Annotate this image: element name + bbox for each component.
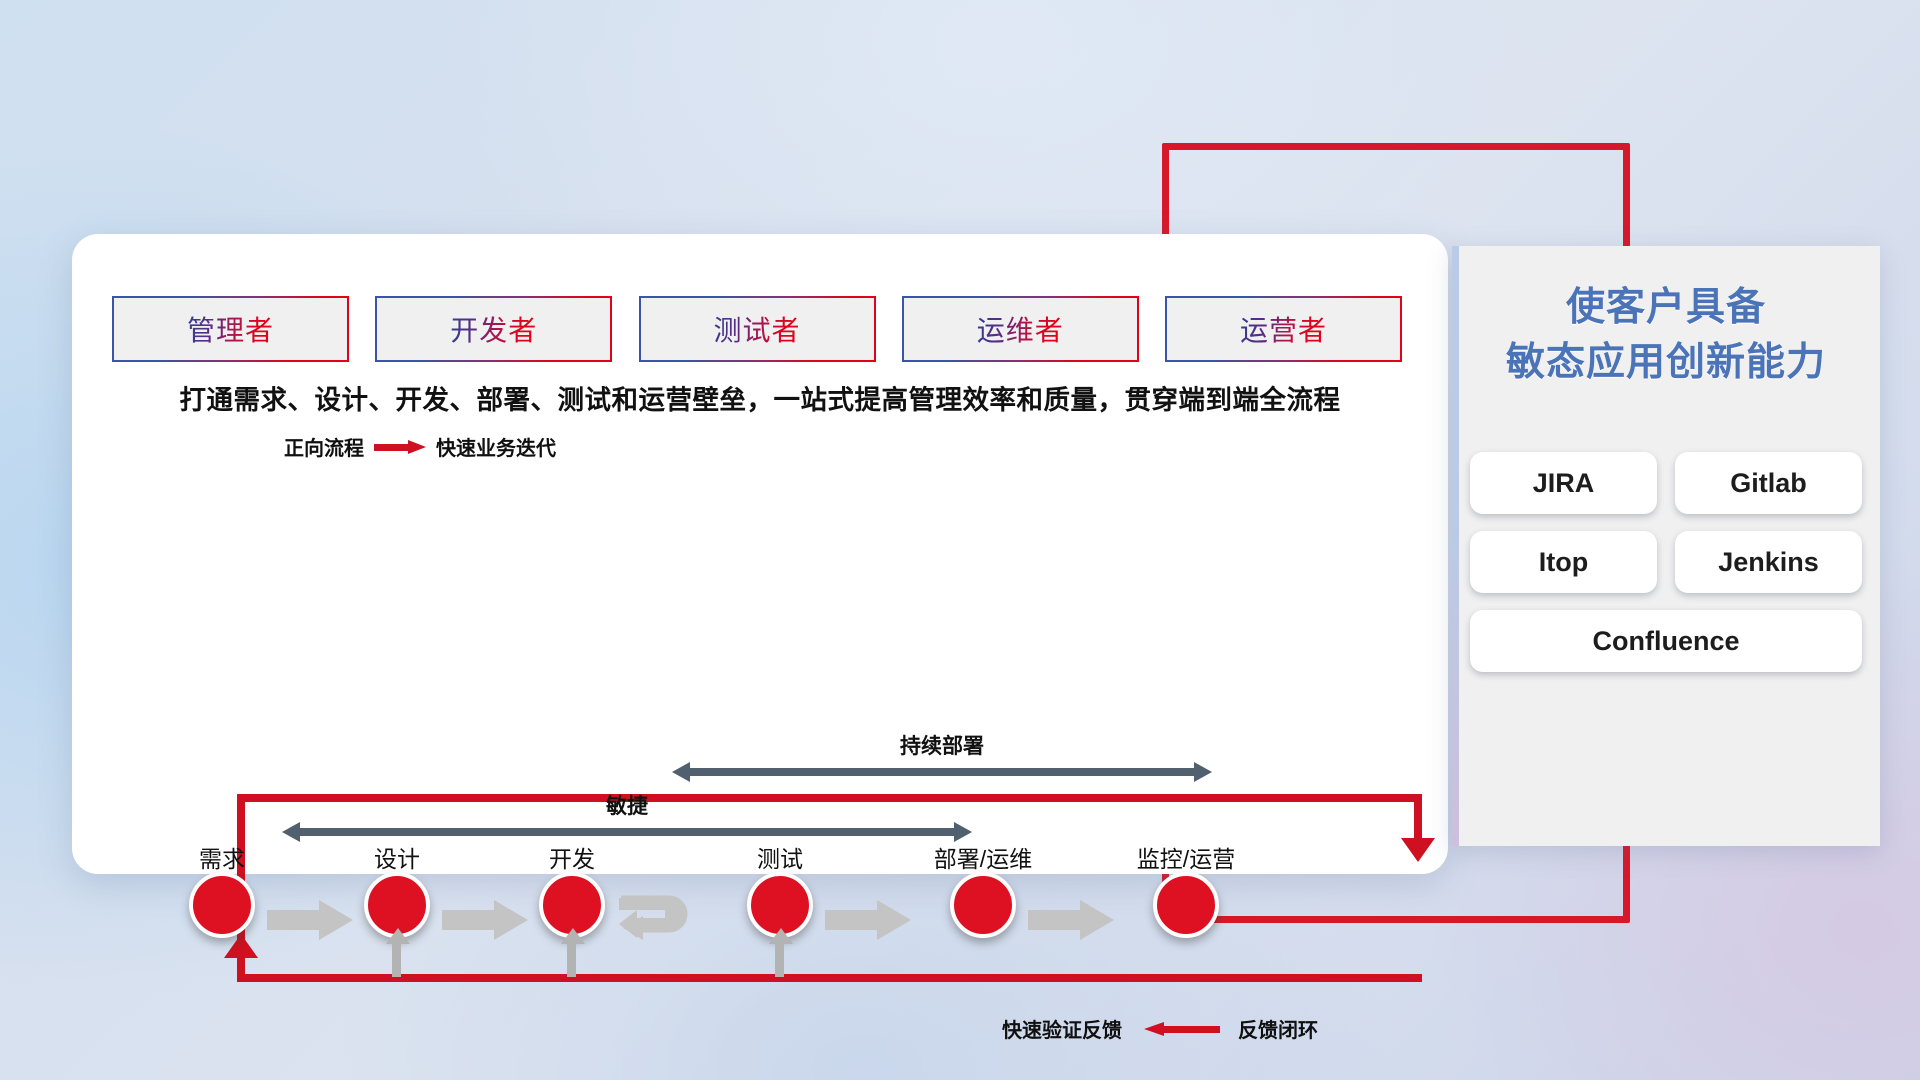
tool-jira[interactable]: JIRA (1470, 452, 1657, 514)
arrow-label: 敏捷 (282, 790, 972, 820)
arrow-shaft (298, 828, 956, 836)
grey-arrow-1-icon (267, 900, 353, 940)
role-operation[interactable]: 运营者 (1165, 296, 1402, 362)
stage-label: 测试 (757, 840, 803, 874)
feeder-stem-testing (775, 939, 784, 977)
feeder-stem-development (567, 939, 576, 977)
tool-label: Confluence (1592, 626, 1739, 657)
feeder-stem-head-design-icon (386, 928, 410, 944)
tool-itop[interactable]: Itop (1470, 531, 1657, 593)
legend-feedback-left: 快速验证反馈 (1002, 1014, 1122, 1043)
stage-label: 开发 (549, 840, 595, 874)
legend-forward-flow: 正向流程 快速业务迭代 (284, 432, 556, 461)
feeder-stem-head-development-icon (561, 928, 585, 944)
tools-list: JIRA Gitlab Itop Jenkins Confluence (1470, 452, 1862, 672)
tool-label: JIRA (1533, 468, 1595, 499)
arrow-agile: 敏捷 (282, 822, 972, 842)
legend-forward-from: 正向流程 (284, 432, 364, 461)
tool-label: Gitlab (1730, 468, 1807, 499)
stage-circle-icon (1153, 872, 1219, 938)
tool-label: Jenkins (1718, 547, 1819, 578)
legend-feedback-right: 反馈闭环 (1238, 1014, 1318, 1043)
panel-title: 使客户具备 敏态应用创新能力 (1452, 280, 1880, 391)
iteration-loop-arrow-icon (617, 894, 713, 950)
tool-label: Itop (1539, 547, 1588, 578)
role-label: 运维者 (977, 309, 1064, 349)
feeder-stem-design (392, 939, 401, 977)
headline-text: 打通需求、设计、开发、部署、测试和运营壁垒，一站式提高管理效率和质量，贯穿端到端… (72, 378, 1448, 417)
arrow-continuous-deployment: 持续部署 (672, 762, 1212, 782)
value-proposition-panel: 使客户具备 敏态应用创新能力 JIRA Gitlab Itop Jenkins … (1452, 246, 1880, 846)
roles-row: 管理者 开发者 测试者 运维者 运营者 (112, 296, 1402, 362)
legend-forward-to: 快速业务迭代 (436, 432, 556, 461)
arrow-head-right-icon (1194, 762, 1212, 782)
grey-arrow-2-icon (442, 900, 528, 940)
role-label: 测试者 (713, 309, 800, 349)
arrow-shaft (688, 768, 1196, 776)
stage-label: 设计 (374, 840, 420, 874)
grey-arrow-3-icon (825, 900, 911, 940)
pipeline: 需求 设计 开发 (72, 846, 1448, 966)
grey-arrow-4-icon (1028, 900, 1114, 940)
stage-circle-icon (950, 872, 1016, 938)
stage-label: 监控/运营 (1137, 840, 1235, 874)
arrow-right-red-icon (374, 440, 426, 454)
tool-jenkins[interactable]: Jenkins (1675, 531, 1862, 593)
panel-title-line2: 敏态应用创新能力 (1452, 335, 1880, 390)
legend-feedback-loop: 快速验证反馈 反馈闭环 (1002, 1014, 1318, 1043)
role-ops[interactable]: 运维者 (902, 296, 1139, 362)
main-diagram-card: 管理者 开发者 测试者 运维者 运营者 打通需求、设计、开发、部署、测试和运营壁… (72, 234, 1448, 874)
red-loop-bottom (237, 974, 1422, 982)
feeder-stem-head-testing-icon (769, 928, 793, 944)
role-label: 管理者 (187, 309, 274, 349)
arrow-left-red-icon (1140, 1022, 1220, 1036)
role-label: 开发者 (450, 309, 537, 349)
panel-title-line1: 使客户具备 (1452, 280, 1880, 335)
stage-circle-icon (189, 872, 255, 938)
role-label: 运营者 (1240, 309, 1327, 349)
stage-label: 需求 (199, 840, 245, 874)
stage-label: 部署/运维 (934, 840, 1032, 874)
role-developer[interactable]: 开发者 (375, 296, 612, 362)
role-manager[interactable]: 管理者 (112, 296, 349, 362)
role-tester[interactable]: 测试者 (639, 296, 876, 362)
arrow-head-right-icon (954, 822, 972, 842)
tool-confluence[interactable]: Confluence (1470, 610, 1862, 672)
tool-gitlab[interactable]: Gitlab (1675, 452, 1862, 514)
arrow-label: 持续部署 (672, 730, 1212, 760)
